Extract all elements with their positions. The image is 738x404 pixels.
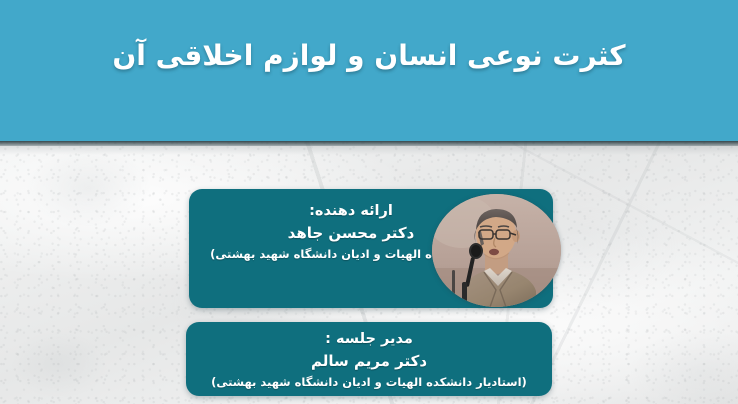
chair-role-label: مدیر جلسه : <box>204 331 534 347</box>
header-banner: کثرت نوعی انسان و لوازم اخلاقی آن <box>0 0 738 141</box>
chair-name: دکتر مریم سالم <box>204 352 534 370</box>
speaker-portrait <box>432 194 561 307</box>
event-poster: کثرت نوعی انسان و لوازم اخلاقی آن ارائه … <box>0 0 738 404</box>
speaker-portrait-photo-icon <box>432 194 561 307</box>
poster-title: کثرت نوعی انسان و لوازم اخلاقی آن <box>0 38 738 73</box>
session-chair-card: مدیر جلسه : دکتر مریم سالم (استادیار دان… <box>186 322 552 396</box>
chair-affiliation: (استادیار دانشکده الهیات و ادیان دانشگاه… <box>204 375 534 389</box>
